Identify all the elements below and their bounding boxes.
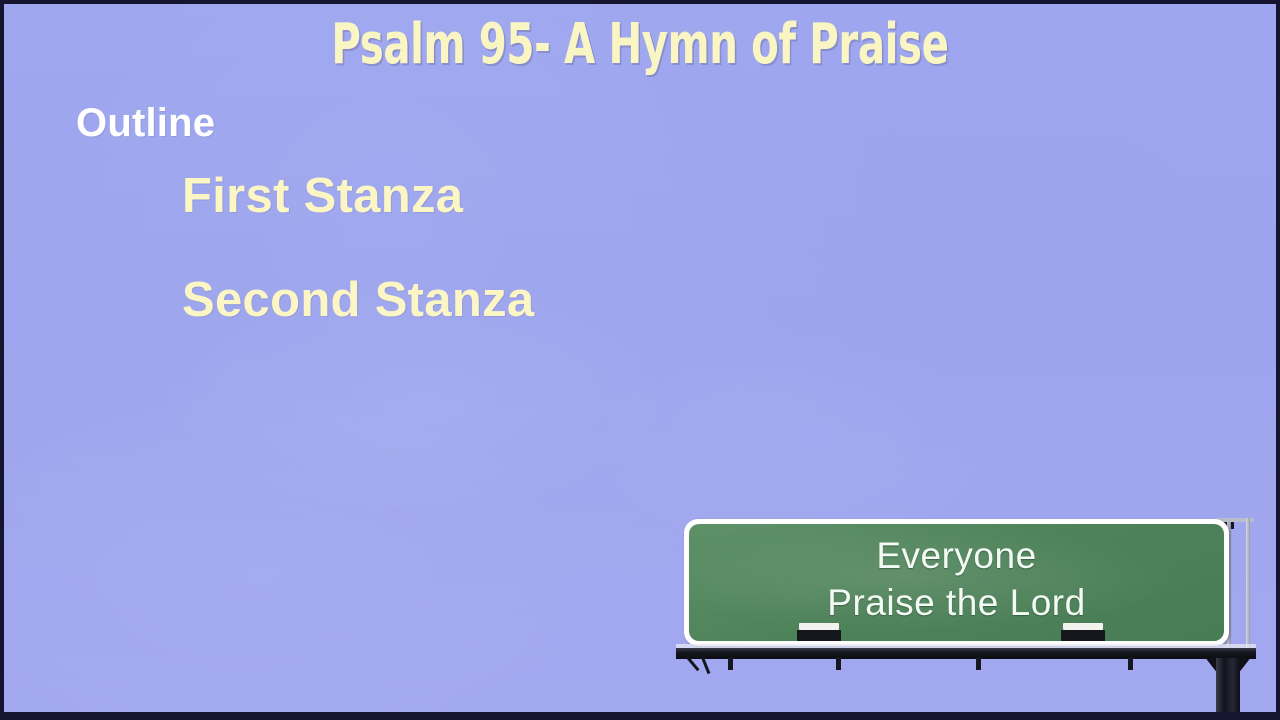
highway-sign-image: Everyone Praise the Lord <box>676 510 1276 712</box>
slide-frame-top <box>0 0 1280 4</box>
lamp-glass <box>799 623 839 630</box>
sign-lamp-left-icon <box>797 623 841 641</box>
page-title: Psalm 95- A Hymn of Praise <box>131 14 1149 76</box>
gantry-hanger <box>976 657 981 670</box>
outline-heading: Outline <box>76 100 215 146</box>
bullet-item-first-stanza: First Stanza <box>182 168 463 224</box>
sign-support-post <box>1216 658 1240 712</box>
bullet-item-second-stanza: Second Stanza <box>182 272 534 328</box>
gantry-hanger <box>728 657 733 670</box>
sign-line-1: Everyone <box>689 532 1224 579</box>
slide-canvas: Psalm 95- A Hymn of Praise Outline First… <box>4 4 1276 712</box>
slide-frame-left <box>0 0 4 720</box>
sign-green-face: Everyone Praise the Lord <box>689 524 1224 641</box>
sign-text-block: Everyone Praise the Lord <box>689 532 1224 626</box>
gantry-hanger <box>1128 657 1133 670</box>
sign-panel-border: Everyone Praise the Lord <box>684 519 1229 646</box>
slide-frame-right <box>1276 0 1280 720</box>
sign-lamp-right-icon <box>1061 623 1105 641</box>
lamp-body <box>797 630 841 641</box>
gantry-beam <box>676 648 1256 659</box>
presentation-slide: Psalm 95- A Hymn of Praise Outline First… <box>0 0 1280 720</box>
lamp-body <box>1061 630 1105 641</box>
slide-frame-bottom <box>0 712 1280 720</box>
lamp-glass <box>1063 623 1103 630</box>
gantry-truss-outer-post <box>1246 518 1250 658</box>
sign-line-2: Praise the Lord <box>689 579 1224 626</box>
gantry-hanger <box>836 657 841 670</box>
